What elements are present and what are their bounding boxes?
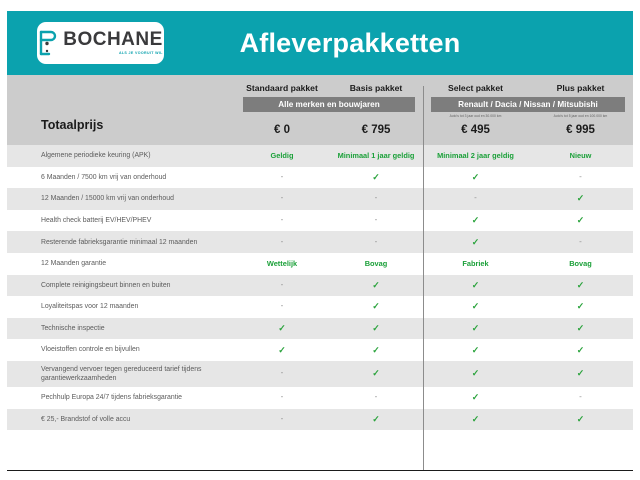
- row-cell-group: -✓: [235, 173, 423, 182]
- package-names-2: Select pakket Plus pakket: [423, 75, 633, 93]
- row-cell-group: ✓✓: [423, 302, 633, 311]
- table-row: Vloeistoffen controle en bijvullen✓✓✓✓: [7, 339, 633, 361]
- check-icon: ✓: [528, 346, 633, 355]
- row-cells: ---✓: [235, 194, 633, 203]
- package-group-1: Standaard pakket Basis pakket Alle merke…: [235, 75, 423, 145]
- cell-value: Minimaal 2 jaar geldig: [423, 152, 528, 159]
- package-name-standaard: Standaard pakket: [235, 83, 329, 93]
- dash-marker: -: [235, 415, 329, 424]
- check-icon: ✓: [423, 281, 528, 290]
- cell-value: Minimaal 1 jaar geldig: [329, 152, 423, 159]
- table-row: Health check batterij EV/HEV/PHEV--✓✓: [7, 210, 633, 232]
- row-cell-group: ✓✓: [235, 324, 423, 333]
- package-group-2-pill: Renault / Dacia / Nissan / Mitsubishi: [431, 97, 625, 112]
- check-icon: ✓: [329, 173, 423, 182]
- row-cell-group: ✓✓: [423, 216, 633, 225]
- row-cell-group: FabriekBovag: [423, 260, 633, 267]
- package-name-select: Select pakket: [423, 83, 528, 93]
- row-cell-group: Minimaal 2 jaar geldigNieuw: [423, 152, 633, 159]
- table-row: Loyaliteitspas voor 12 maanden-✓✓✓: [7, 296, 633, 318]
- row-cells: -✓✓-: [235, 173, 633, 182]
- dash-marker: -: [235, 369, 329, 378]
- row-label: Resterende fabrieksgarantie minimaal 12 …: [7, 238, 235, 247]
- check-icon: ✓: [528, 281, 633, 290]
- check-icon: ✓: [329, 302, 423, 311]
- row-cell-group: --: [235, 216, 423, 225]
- row-cells: --✓✓: [235, 216, 633, 225]
- row-label: Vloeistoffen controle en bijvullen: [7, 345, 235, 354]
- cell-value: Nieuw: [528, 152, 633, 159]
- check-icon: ✓: [528, 194, 633, 203]
- row-label: Complete reinigingsbeurt binnen en buite…: [7, 281, 235, 290]
- afleverpakketten-card: BOCHANE ALS JE VOORUIT WIL Afleverpakket…: [7, 11, 633, 471]
- check-icon: ✓: [423, 302, 528, 311]
- page-header: BOCHANE ALS JE VOORUIT WIL Afleverpakket…: [7, 11, 633, 75]
- check-icon: ✓: [235, 324, 329, 333]
- dash-marker: -: [329, 393, 423, 402]
- row-label: Health check batterij EV/HEV/PHEV: [7, 216, 235, 225]
- package-price-plus: € 995: [528, 124, 633, 136]
- package-name-plus: Plus pakket: [528, 83, 633, 93]
- row-cell-group: GeldigMinimaal 1 jaar geldig: [235, 152, 423, 159]
- row-label: Algemene periodieke keuring (APK): [7, 151, 235, 160]
- dash-marker: -: [329, 194, 423, 203]
- row-label: Technische inspectie: [7, 324, 235, 333]
- check-icon: ✓: [329, 369, 423, 378]
- cell-value: Geldig: [235, 152, 329, 159]
- group-divider: [423, 86, 424, 471]
- table-row: 12 Maanden / 15000 km vrij van onderhoud…: [7, 188, 633, 210]
- cell-value: Bovag: [528, 260, 633, 267]
- check-icon: ✓: [235, 346, 329, 355]
- check-icon: ✓: [423, 238, 528, 247]
- row-cells: -✓✓✓: [235, 281, 633, 290]
- check-icon: ✓: [423, 324, 528, 333]
- totaalprijs-label: Totaalprijs: [41, 118, 103, 132]
- dash-marker: -: [423, 194, 528, 203]
- row-cells: -✓✓✓: [235, 302, 633, 311]
- check-icon: ✓: [528, 216, 633, 225]
- row-cell-group: ✓✓: [423, 281, 633, 290]
- table-row: Resterende fabrieksgarantie minimaal 12 …: [7, 231, 633, 253]
- package-price-basis: € 795: [329, 124, 423, 136]
- dash-marker: -: [528, 393, 633, 402]
- table-row: € 25,- Brandstof of volle accu-✓✓✓: [7, 409, 633, 431]
- row-cells: ✓✓✓✓: [235, 346, 633, 355]
- table-row: 12 Maanden garantieWettelijkBovagFabriek…: [7, 253, 633, 275]
- row-cell-group: ✓✓: [235, 346, 423, 355]
- package-names-1: Standaard pakket Basis pakket: [235, 75, 423, 93]
- row-cells: GeldigMinimaal 1 jaar geldigMinimaal 2 j…: [235, 152, 633, 159]
- dash-marker: -: [235, 194, 329, 203]
- cell-value: Fabriek: [423, 260, 528, 267]
- dash-marker: -: [235, 281, 329, 290]
- table-row: Vervangend vervoer tegen gereduceerd tar…: [7, 361, 633, 387]
- package-subs-2: Auto's tot 3 jaar oud en 30.000 km Auto'…: [423, 114, 633, 118]
- dash-marker: -: [235, 238, 329, 247]
- check-icon: ✓: [423, 415, 528, 424]
- check-icon: ✓: [423, 173, 528, 182]
- check-icon: ✓: [423, 369, 528, 378]
- check-icon: ✓: [423, 216, 528, 225]
- row-cells: -✓✓✓: [235, 415, 633, 424]
- package-name-basis: Basis pakket: [329, 83, 423, 93]
- row-cell-group: --: [235, 393, 423, 402]
- table-row: 6 Maanden / 7500 km vrij van onderhoud-✓…: [7, 167, 633, 189]
- check-icon: ✓: [528, 415, 633, 424]
- row-label: 12 Maanden garantie: [7, 259, 235, 268]
- dash-marker: -: [329, 216, 423, 225]
- row-cell-group: WettelijkBovag: [235, 260, 423, 267]
- check-icon: ✓: [329, 346, 423, 355]
- row-cells: --✓-: [235, 393, 633, 402]
- package-price-select: € 495: [423, 124, 528, 136]
- package-groups: Standaard pakket Basis pakket Alle merke…: [235, 75, 633, 145]
- row-cell-group: -✓: [235, 302, 423, 311]
- row-label: Pechhulp Europa 24/7 tijdens fabrieksgar…: [7, 393, 235, 402]
- row-cell-group: ✓-: [423, 173, 633, 182]
- row-cell-group: -✓: [423, 194, 633, 203]
- package-prices-1: € 0 € 795: [235, 124, 423, 136]
- package-price-standaard: € 0: [235, 124, 329, 136]
- row-cells: -✓✓✓: [235, 369, 633, 378]
- check-icon: ✓: [329, 281, 423, 290]
- dash-marker: -: [235, 173, 329, 182]
- row-cell-group: ✓-: [423, 393, 633, 402]
- page-title: Afleverpakketten: [7, 28, 633, 59]
- table-row: Pechhulp Europa 24/7 tijdens fabrieksgar…: [7, 387, 633, 409]
- row-cell-group: ✓-: [423, 238, 633, 247]
- check-icon: ✓: [528, 302, 633, 311]
- dash-marker: -: [528, 238, 633, 247]
- package-sub-select: Auto's tot 3 jaar oud en 30.000 km: [423, 114, 528, 118]
- row-cell-group: --: [235, 238, 423, 247]
- check-icon: ✓: [528, 369, 633, 378]
- row-cell-group: --: [235, 194, 423, 203]
- check-icon: ✓: [423, 393, 528, 402]
- cell-value: Wettelijk: [235, 260, 329, 267]
- row-cells: ✓✓✓✓: [235, 324, 633, 333]
- row-label: 12 Maanden / 15000 km vrij van onderhoud: [7, 194, 235, 203]
- row-cell-group: -✓: [235, 369, 423, 378]
- package-group-1-pill: Alle merken en bouwjaren: [243, 97, 415, 112]
- row-cell-group: -✓: [235, 415, 423, 424]
- row-cell-group: ✓✓: [423, 346, 633, 355]
- dash-marker: -: [235, 302, 329, 311]
- row-cell-group: -✓: [235, 281, 423, 290]
- table-footer-space: [7, 430, 633, 454]
- dash-marker: -: [235, 216, 329, 225]
- row-label: € 25,- Brandstof of volle accu: [7, 415, 235, 424]
- table-row: Algemene periodieke keuring (APK)GeldigM…: [7, 145, 633, 167]
- package-header-band: Totaalprijs Standaard pakket Basis pakke…: [7, 75, 633, 145]
- row-cell-group: ✓✓: [423, 369, 633, 378]
- package-prices-2: € 495 € 995: [423, 124, 633, 136]
- feature-rows: Algemene periodieke keuring (APK)GeldigM…: [7, 145, 633, 430]
- row-label: Loyaliteitspas voor 12 maanden: [7, 302, 235, 311]
- page-root: BOCHANE ALS JE VOORUIT WIL Afleverpakket…: [0, 0, 640, 480]
- package-group-2: Select pakket Plus pakket Renault / Daci…: [423, 75, 633, 145]
- table-row: Complete reinigingsbeurt binnen en buite…: [7, 275, 633, 297]
- check-icon: ✓: [423, 346, 528, 355]
- dash-marker: -: [235, 393, 329, 402]
- dash-marker: -: [528, 173, 633, 182]
- row-label: Vervangend vervoer tegen gereduceerd tar…: [7, 365, 235, 384]
- package-sub-plus: Auto's tot 5 jaar oud en 100.000 km: [528, 114, 633, 118]
- row-cells: WettelijkBovagFabriekBovag: [235, 260, 633, 267]
- check-icon: ✓: [329, 324, 423, 333]
- cell-value: Bovag: [329, 260, 423, 267]
- check-icon: ✓: [329, 415, 423, 424]
- row-cells: --✓-: [235, 238, 633, 247]
- check-icon: ✓: [528, 324, 633, 333]
- row-cell-group: ✓✓: [423, 415, 633, 424]
- table-row: Technische inspectie✓✓✓✓: [7, 318, 633, 340]
- row-cell-group: ✓✓: [423, 324, 633, 333]
- dash-marker: -: [329, 238, 423, 247]
- row-label: 6 Maanden / 7500 km vrij van onderhoud: [7, 173, 235, 182]
